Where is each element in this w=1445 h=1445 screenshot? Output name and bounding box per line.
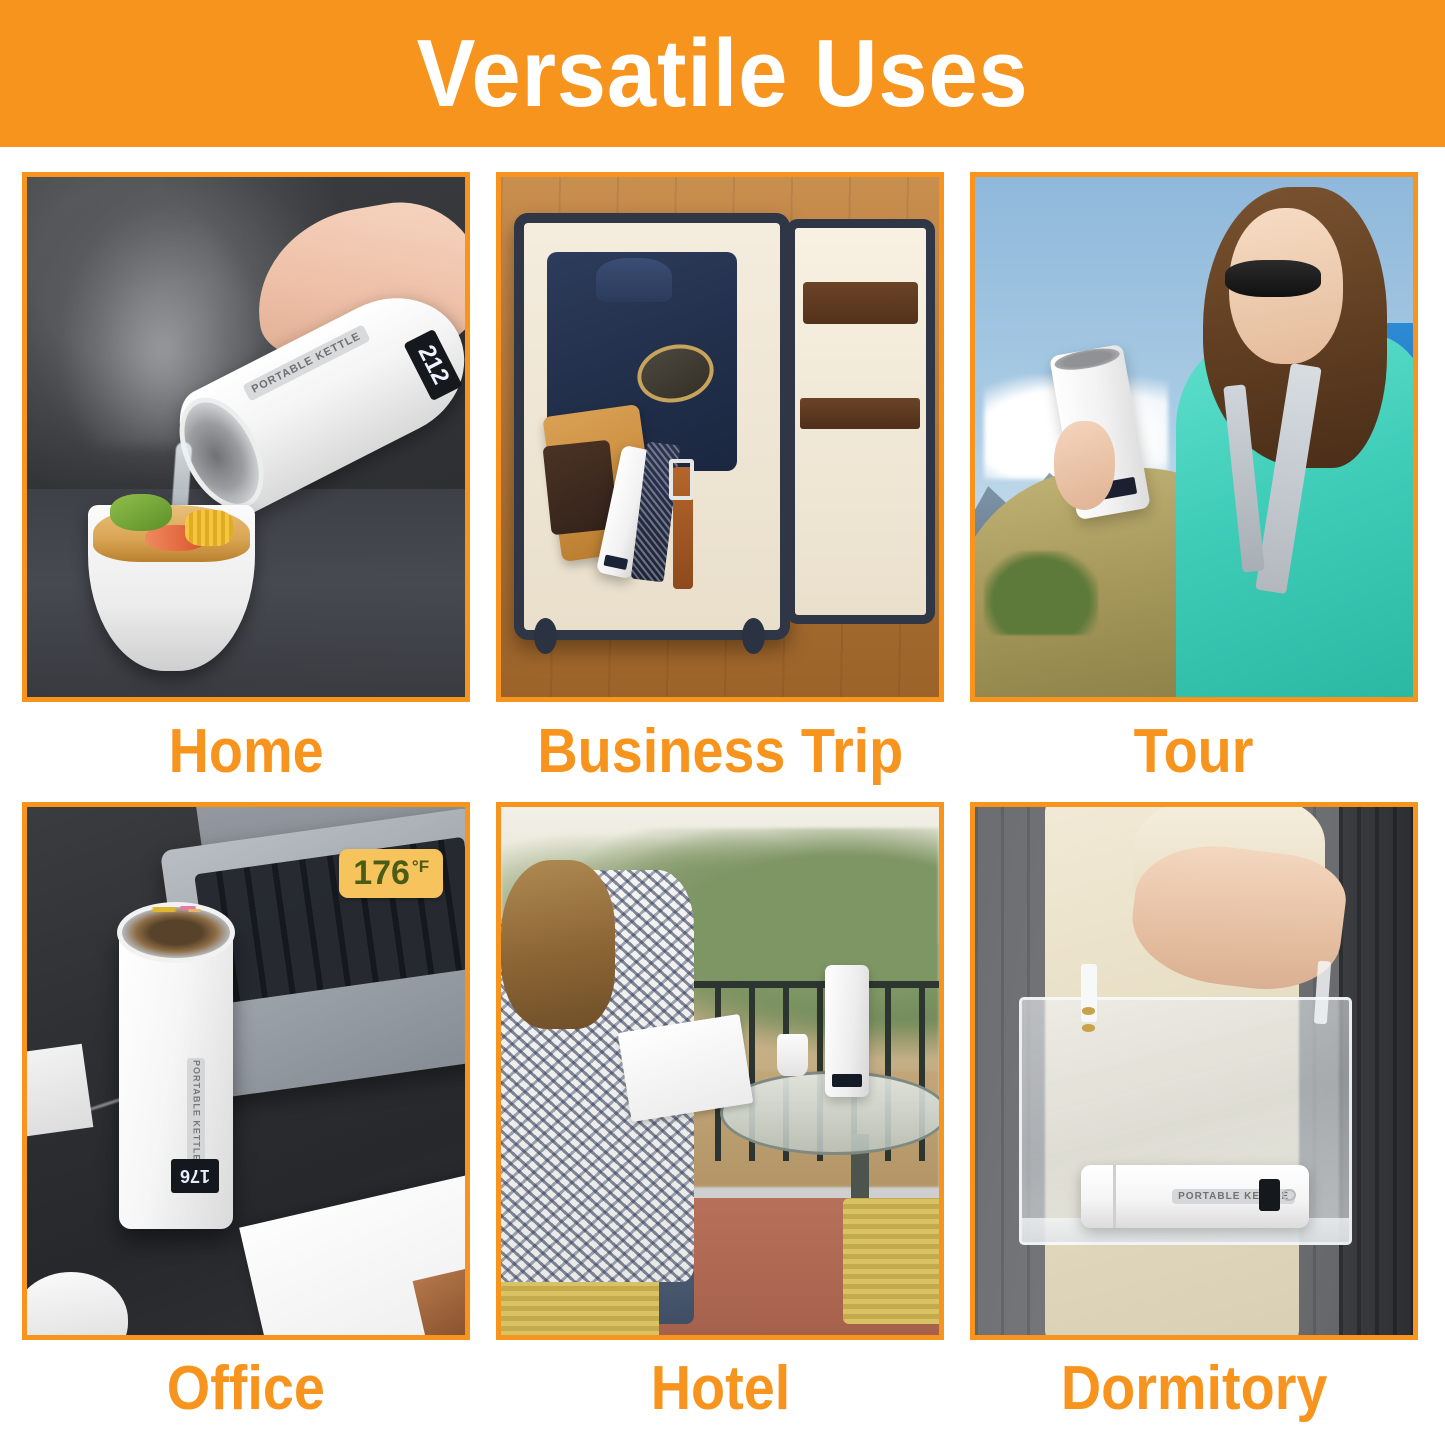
panel-photo-home: PORTABLE KETTLE 212: [22, 172, 470, 702]
scene-home: PORTABLE KETTLE 212: [27, 177, 465, 697]
portable-kettle: PORTABLE KETTLE 176: [119, 923, 233, 1229]
panel-label-text: Home: [168, 721, 323, 783]
kettle-display-value: 176: [180, 1165, 210, 1186]
temperature-badge: 176 °F: [339, 849, 443, 898]
panel-label-text: Dormitory: [1061, 1358, 1328, 1420]
corn: [185, 510, 233, 546]
header-banner: Versatile Uses: [0, 0, 1445, 147]
panel-label-text: Tour: [1134, 721, 1254, 783]
portable-kettle: PORTABLE KETTLE: [1081, 1165, 1310, 1228]
woman-hair: [501, 860, 615, 1029]
dried-fruit-slice: [185, 909, 205, 912]
panel-photo-office: PORTABLE KETTLE 176 176 °F: [22, 802, 470, 1340]
hiker-hand: [1054, 421, 1115, 509]
scene-office: PORTABLE KETTLE 176 176 °F: [27, 807, 465, 1335]
infographic-page: Versatile Uses PORTABLE KETTLE 212: [0, 0, 1445, 1445]
portable-kettle: [825, 965, 869, 1097]
scene-dormitory: PORTABLE KETTLE: [975, 807, 1413, 1335]
kettle-display: [603, 554, 628, 570]
wicker-chair: [843, 1198, 944, 1325]
panel-label-text: Business Trip: [537, 721, 903, 783]
tote-snap-button: [1082, 1007, 1095, 1014]
magazine-photo: [412, 1263, 470, 1340]
scene-hotel: [501, 807, 939, 1335]
kettle-display: [832, 1074, 862, 1087]
white-mug: [777, 1034, 808, 1076]
use-case-grid: PORTABLE KETTLE 212: [22, 172, 1422, 1437]
kettle-mouth: [117, 902, 235, 963]
aviator-sunglasses: [1225, 260, 1321, 296]
panel-label-hotel: Hotel: [496, 1340, 944, 1437]
belt-buckle: [669, 459, 695, 500]
green-vegetable: [110, 494, 171, 530]
panel-label-business-trip: Business Trip: [496, 702, 944, 802]
tote-snap-button: [1082, 1024, 1095, 1031]
panel-photo-hotel: [496, 802, 944, 1340]
panel-label-text: Hotel: [650, 1358, 790, 1420]
kettle-display: [1259, 1179, 1280, 1212]
panel-label-dormitory: Dormitory: [970, 1340, 1418, 1437]
bush: [984, 551, 1098, 634]
kettle-seam: [1113, 1165, 1116, 1228]
scene-tour: [975, 177, 1413, 697]
kettle-brand-label: PORTABLE KETTLE: [187, 1058, 205, 1163]
panel-photo-business-trip: [496, 172, 944, 702]
panel-photo-dormitory: PORTABLE KETTLE: [970, 802, 1418, 1340]
suitcase-base: [514, 213, 790, 639]
power-button-icon: [1282, 1189, 1296, 1202]
suitcase-wheel: [742, 618, 765, 655]
temperature-value: 176: [353, 856, 410, 890]
panel-label-text: Office: [167, 1358, 325, 1420]
paper-sheet: [22, 1044, 94, 1141]
lid-strap: [800, 398, 920, 429]
kettle-display: 176: [171, 1159, 219, 1193]
panel-photo-tour: [970, 172, 1418, 702]
page-title: Versatile Uses: [417, 26, 1029, 122]
panel-label-office: Office: [22, 1340, 470, 1437]
transparent-tote-bag: PORTABLE KETTLE: [1019, 997, 1352, 1245]
shirt-collar: [596, 258, 672, 302]
suitcase-lid: [786, 219, 935, 625]
lid-zipper-pocket: [803, 282, 918, 325]
panel-label-home: Home: [22, 702, 470, 802]
scene-business-trip: [501, 177, 939, 697]
panel-label-tour: Tour: [970, 702, 1418, 802]
temperature-unit: °F: [412, 858, 429, 875]
